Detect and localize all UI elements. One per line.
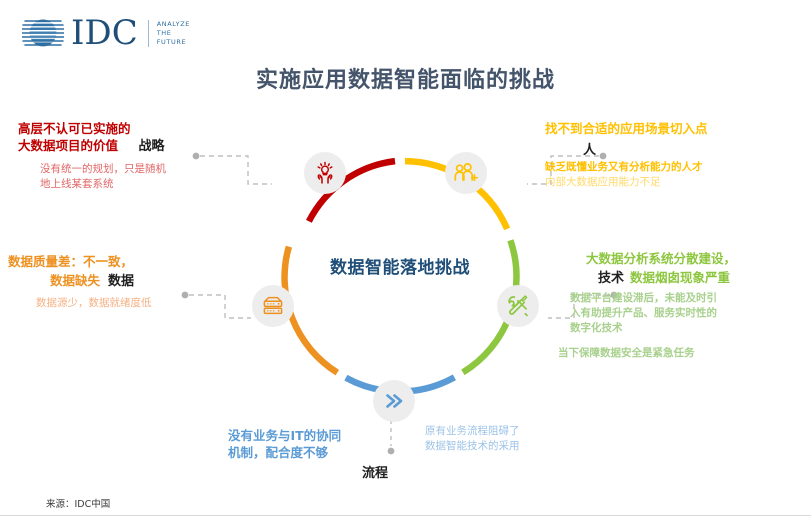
connector-process [387, 420, 407, 462]
technology-sub: 数据平台建设滞后，未能及时引 入有助提升产品、服务实时性的 数字化技术 [570, 291, 805, 336]
technology-headline-row2: 技术 数据烟囱现象严重 [598, 267, 805, 286]
data-category-label: 数据 [108, 270, 134, 289]
block-data: 数据质量差：不一致， 数据缺失 数据 数据源少，数据就绪度低 [8, 253, 233, 311]
block-people: 找不到合适的应用场景切入点 人 缺乏既懂业务又有分析能力的人才 内部大数据应用能… [545, 120, 795, 190]
data-headline-line2: 数据缺失 [50, 272, 100, 289]
diagram-center-label: 数据智能落地挑战 [255, 253, 545, 278]
node-strategy[interactable] [304, 152, 346, 194]
technology-sub2: 当下保障数据安全是紧急任务 [558, 346, 805, 361]
process-category-label: 流程 [362, 466, 388, 481]
people-category-label: 人 [583, 139, 795, 158]
database-server-icon [261, 294, 285, 318]
slide-canvas: IDC ANALYZE THE FUTURE 实施应用数据智能面临的挑战 [0, 0, 811, 522]
technology-category-label: 技术 [598, 267, 624, 286]
page-title: 实施应用数据智能面临的挑战 [0, 62, 811, 94]
people-sub: 缺乏既懂业务又有分析能力的人才 [545, 160, 795, 175]
idc-tagline-line2: THE [157, 29, 190, 38]
strategy-sub: 没有统一的规划，只是随机 地上线某套系统 [40, 162, 233, 192]
people-sub2: 内部大数据应用能力不足 [545, 175, 795, 190]
source-note: 来源：IDC中国 [46, 496, 110, 510]
idc-tagline: ANALYZE THE FUTURE [148, 20, 190, 47]
strategy-headline: 高层不认可已实施的 大数据项目的价值 [18, 120, 131, 154]
double-chevron-right-icon [382, 389, 406, 413]
node-people[interactable] [445, 152, 487, 194]
data-headline-row2: 数据缺失 数据 [8, 270, 233, 289]
idc-logo: IDC ANALYZE THE FUTURE [22, 12, 190, 54]
node-process[interactable] [373, 380, 415, 422]
strategy-headline-row: 高层不认可已实施的 大数据项目的价值 战略 [18, 120, 233, 154]
block-process-sub: 原有业务流程阻碍了 数据智能技术的采用 [425, 424, 585, 454]
idc-globe-icon [22, 12, 64, 54]
technology-headline-line1: 大数据分析系统分散建设， [586, 250, 805, 267]
idc-tagline-line1: ANALYZE [157, 20, 190, 29]
people-headline: 找不到合适的应用场景切入点 [545, 120, 795, 137]
challenge-circle-diagram: 数据智能落地挑战 [255, 128, 545, 418]
node-technology[interactable] [497, 285, 539, 327]
block-process: 没有业务与IT的协同 机制，配合度不够 流程 [228, 427, 388, 481]
process-headline: 没有业务与IT的协同 机制，配合度不够 [228, 427, 388, 461]
add-people-icon [454, 161, 479, 185]
technology-headline-line2: 数据烟囱现象严重 [630, 269, 730, 286]
process-sub: 原有业务流程阻碍了 数据智能技术的采用 [425, 424, 585, 454]
wrench-screwdriver-icon [506, 294, 530, 318]
footer-divider [0, 515, 811, 522]
hands-lightbulb-icon [313, 161, 337, 185]
data-sub: 数据源少，数据就绪度低 [36, 296, 233, 311]
strategy-category-label: 战略 [139, 135, 165, 154]
idc-wordmark: IDC [71, 16, 138, 50]
idc-tagline-line3: FUTURE [157, 38, 190, 47]
process-category-row: 流程 [228, 462, 388, 481]
data-headline-line1: 数据质量差：不一致， [8, 253, 233, 270]
block-technology: 大数据分析系统分散建设， 技术 数据烟囱现象严重 数据平台建设滞后，未能及时引 … [570, 250, 805, 361]
block-strategy: 高层不认可已实施的 大数据项目的价值 战略 没有统一的规划，只是随机 地上线某套… [18, 120, 233, 192]
node-data[interactable] [252, 285, 294, 327]
